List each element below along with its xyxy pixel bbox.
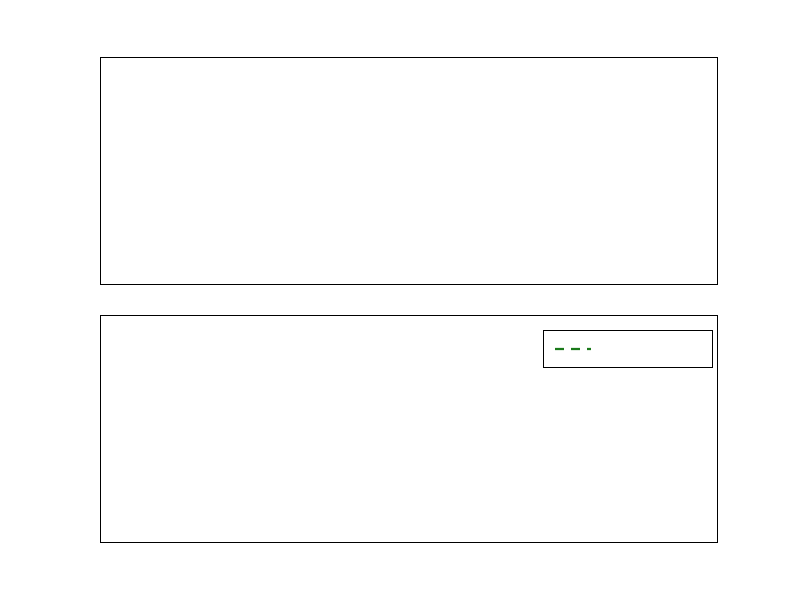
- differential-histogram-axes: [100, 57, 718, 285]
- mag-limit-legend-swatch: [554, 342, 592, 356]
- differential-histogram-plot-area: [101, 58, 717, 284]
- figure-canvas: [0, 0, 800, 600]
- legend[interactable]: [543, 330, 713, 368]
